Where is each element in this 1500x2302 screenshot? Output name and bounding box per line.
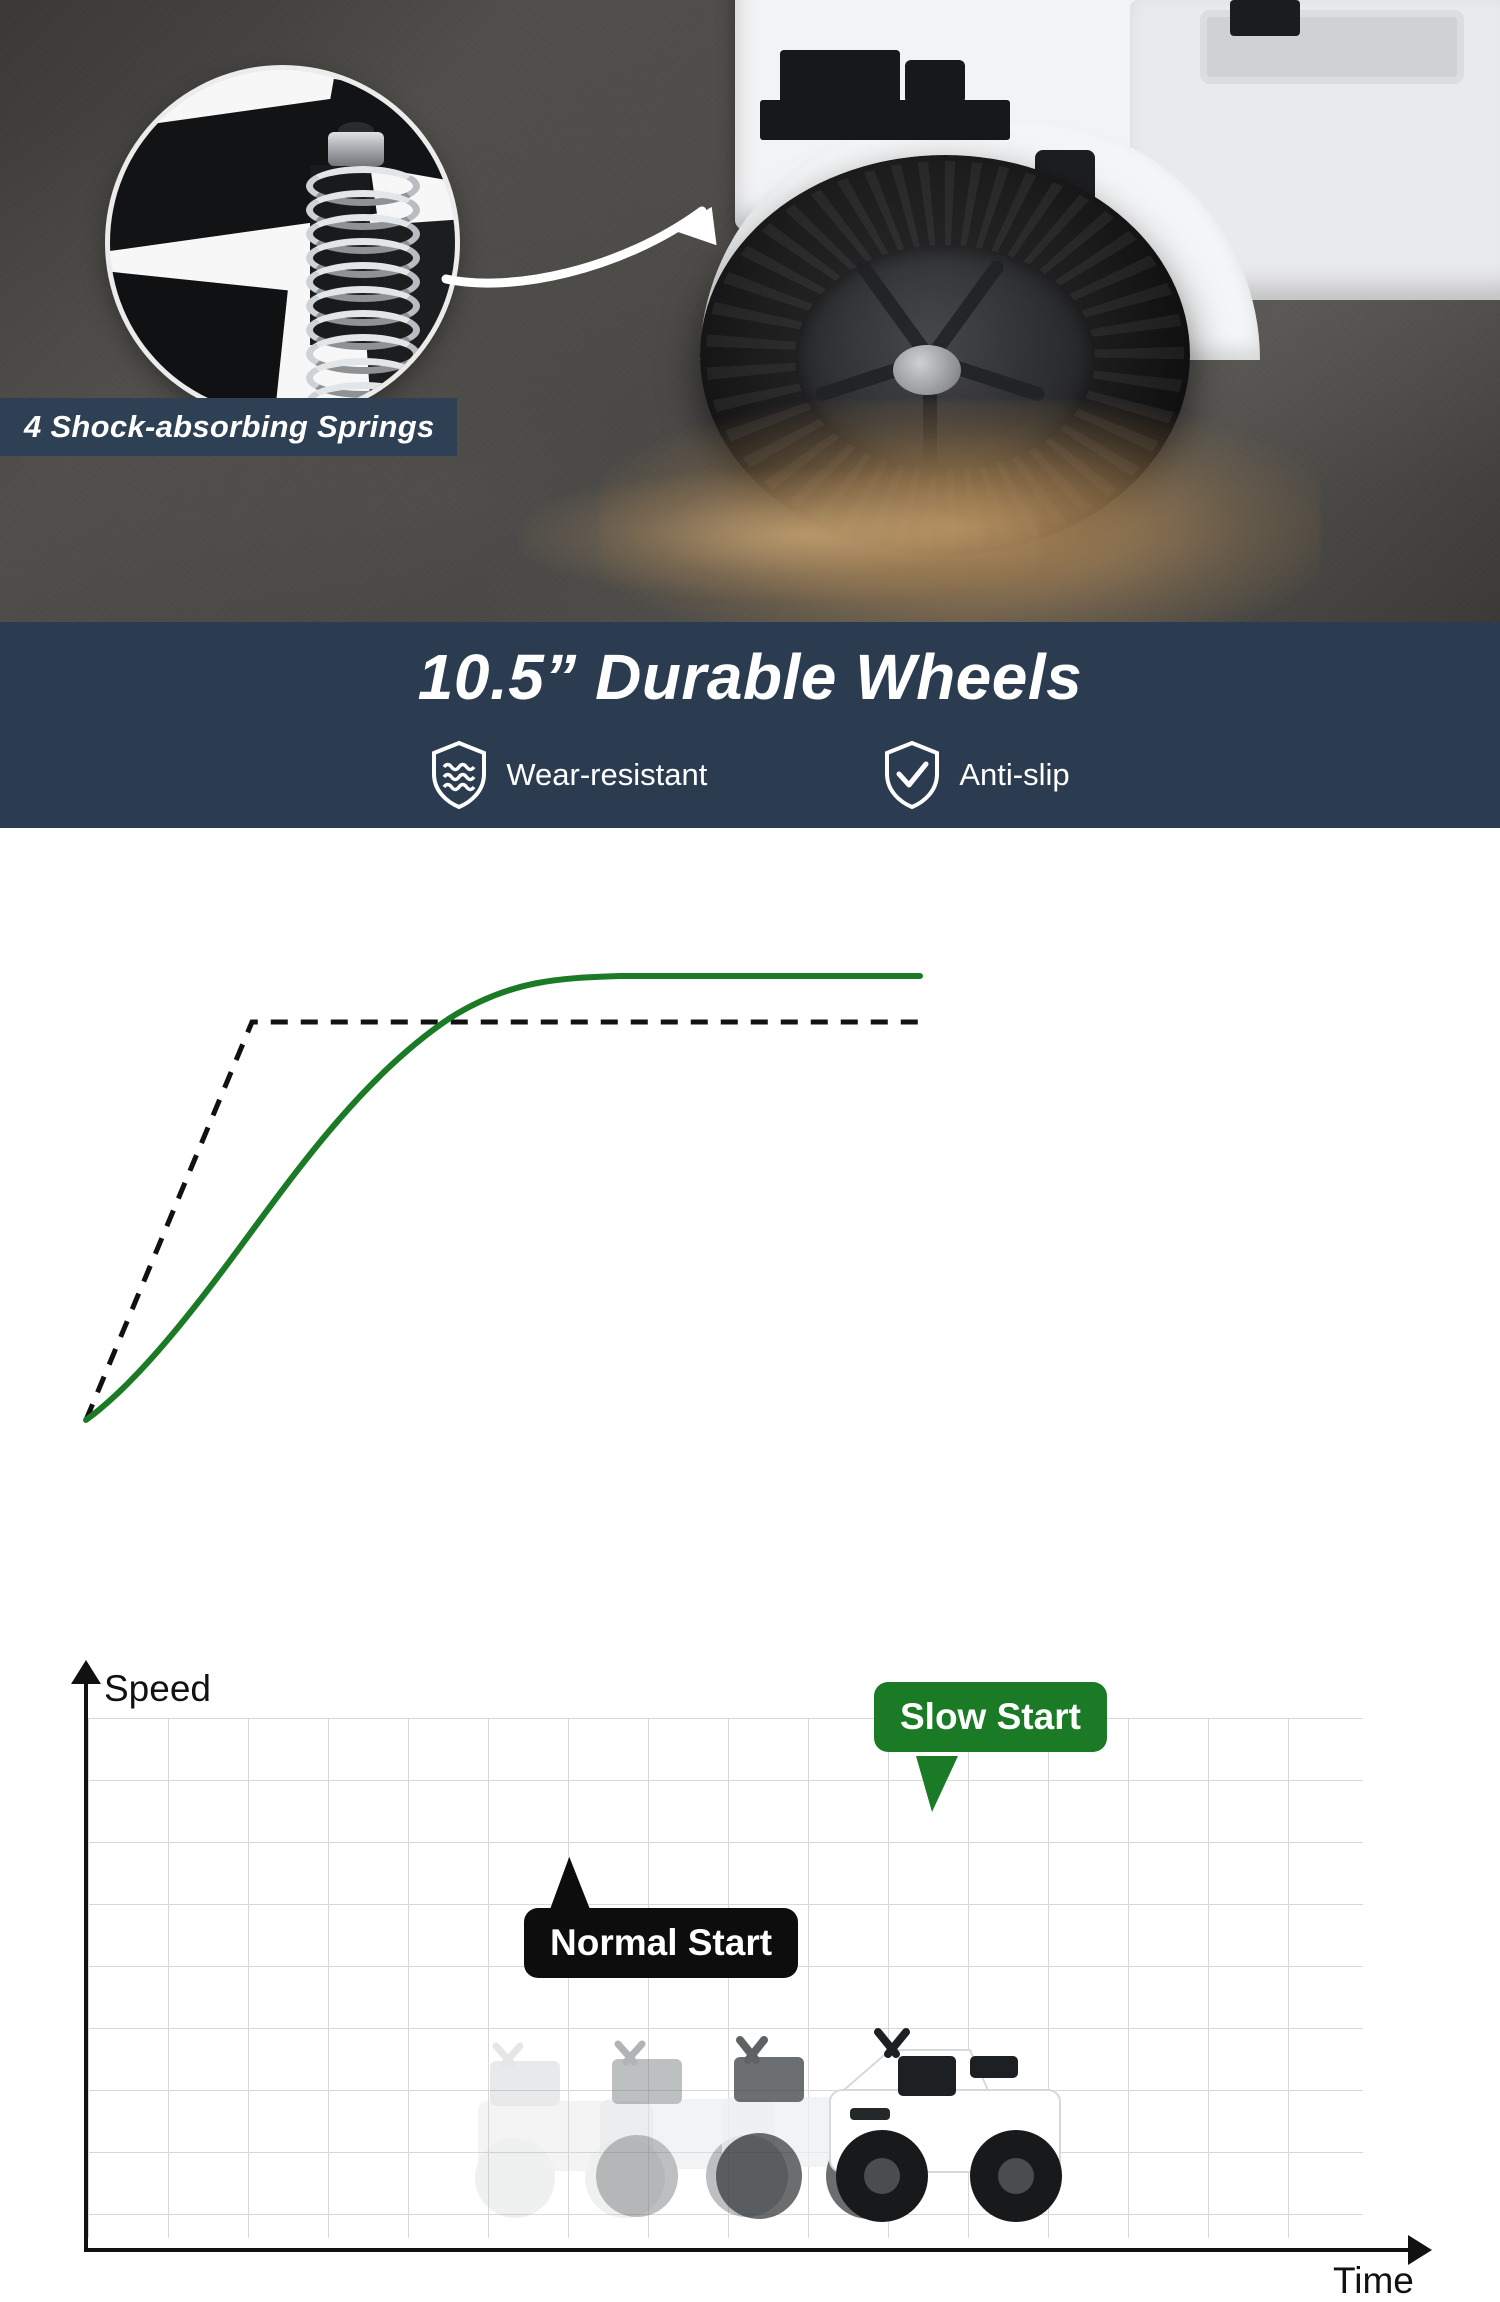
pointer-arrow <box>440 175 780 295</box>
product-infographic: 4 Shock-absorbing Springs 10.5” Durable … <box>0 0 1500 1488</box>
shock-spring-badge: 4 Shock-absorbing Springs <box>0 398 457 456</box>
band-title: 10.5” Durable Wheels <box>0 640 1500 714</box>
normal-start-callout: Normal Start <box>524 1908 798 1978</box>
feature-list: Wear-resistant Anti-slip <box>0 740 1500 810</box>
slow-start-callout-label: Slow Start <box>900 1696 1081 1737</box>
bolt-nut <box>328 132 384 166</box>
feature-wear-resistant: Wear-resistant <box>430 740 707 810</box>
feature-label: Wear-resistant <box>506 757 707 793</box>
x-axis-label: Time <box>1333 2260 1414 2302</box>
y-axis-arrow <box>71 1660 101 1684</box>
slow-start-callout-tail <box>916 1756 958 1812</box>
wheel-photo-panel: 4 Shock-absorbing Springs <box>0 0 1500 622</box>
wheel-hub <box>893 345 961 395</box>
vehicle-trim-1 <box>1230 0 1300 36</box>
ride-on-car-solid <box>830 2032 1062 2222</box>
shock-absorbing-spring-closeup <box>110 70 455 415</box>
speed-time-chart: Speed Time Slow Start Normal Start <box>0 828 1500 1488</box>
series-slow-start <box>86 976 920 1420</box>
ride-on-car-sequence <box>460 1998 1100 2253</box>
slow-start-callout: Slow Start <box>874 1682 1107 1752</box>
y-axis <box>84 1674 88 2252</box>
dust-cloud-low <box>520 470 1040 600</box>
axle-bar <box>760 100 1010 140</box>
shock-spring-badge-label: 4 Shock-absorbing Springs <box>24 409 435 445</box>
feature-anti-slip: Anti-slip <box>883 740 1069 810</box>
frame-part <box>110 271 288 415</box>
anti-slip-shield-check-icon <box>883 740 941 810</box>
feature-label: Anti-slip <box>959 757 1069 793</box>
coil-spring <box>306 166 406 415</box>
wear-resistant-shield-icon <box>430 740 488 810</box>
normal-start-callout-label: Normal Start <box>550 1922 772 1963</box>
series-normal-start <box>86 1022 920 1420</box>
motor-block <box>905 60 965 104</box>
chart-series-layer <box>0 828 1500 1488</box>
y-axis-label: Speed <box>104 1668 211 1710</box>
